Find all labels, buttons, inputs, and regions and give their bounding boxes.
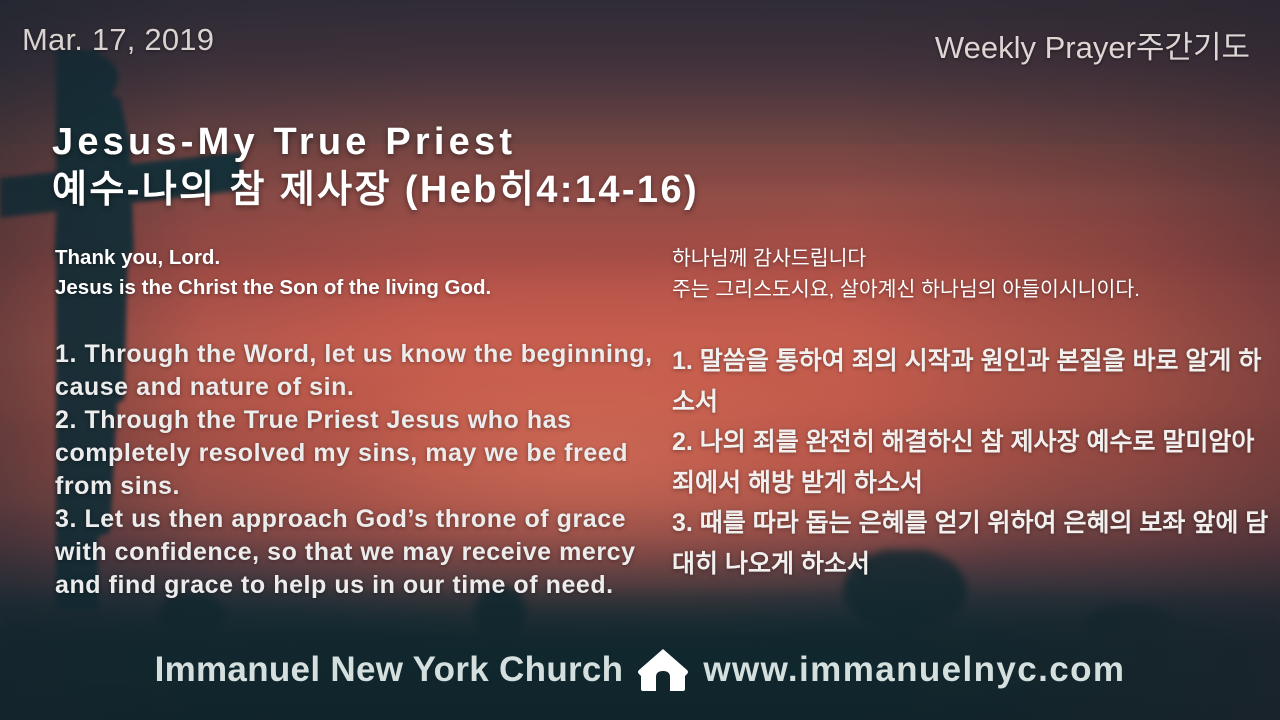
english-prayer-item: 2. Through the True Priest Jesus who has…: [55, 404, 670, 503]
church-name: Immanuel New York Church: [155, 650, 624, 690]
slide-title-block: Jesus-My True Priest 예수-나의 참 제사장 (Heb히4:…: [52, 120, 699, 214]
slide-date: Mar. 17, 2019: [22, 22, 214, 58]
korean-lead-line-1: 하나님께 감사드립니다: [672, 243, 1272, 274]
website-url: www.immanuelnyc.com: [703, 650, 1125, 690]
korean-lead: 하나님께 감사드립니다 주는 그리스도시요, 살아계신 하나님의 아들이시니이다…: [672, 243, 1272, 305]
english-lead: Thank you, Lord. Jesus is the Christ the…: [55, 243, 670, 302]
slide-section-title: Weekly Prayer주간기도: [935, 22, 1250, 67]
english-prayer-item: 1. Through the Word, let us know the beg…: [55, 338, 670, 404]
korean-prayer-item: 1. 말씀을 통하여 죄의 시작과 원인과 본질을 바로 알게 하소서: [672, 341, 1272, 422]
house-icon: [637, 648, 689, 692]
title-english: Jesus-My True Priest: [52, 120, 699, 164]
korean-lead-line-2: 주는 그리스도시요, 살아계신 하나님의 아들이시니이다.: [672, 274, 1272, 305]
korean-prayer-list: 1. 말씀을 통하여 죄의 시작과 원인과 본질을 바로 알게 하소서 2. 나…: [672, 341, 1272, 584]
korean-column: 하나님께 감사드립니다 주는 그리스도시요, 살아계신 하나님의 아들이시니이다…: [672, 243, 1272, 584]
korean-prayer-item: 3. 때를 따라 돕는 은혜를 얻기 위하여 은혜의 보좌 앞에 담대히 나오게…: [672, 503, 1272, 584]
english-prayer-list: 1. Through the Word, let us know the beg…: [55, 338, 670, 602]
title-korean: 예수-나의 참 제사장 (Heb히4:14-16): [52, 167, 699, 214]
english-prayer-item: 3. Let us then approach God’s throne of …: [55, 503, 670, 602]
prayer-slide: Mar. 17, 2019 Weekly Prayer주간기도 Jesus-My…: [0, 0, 1280, 720]
english-lead-line-2: Jesus is the Christ the Son of the livin…: [55, 273, 670, 303]
korean-prayer-item: 2. 나의 죄를 완전히 해결하신 참 제사장 예수로 말미암아 죄에서 해방 …: [672, 422, 1272, 503]
slide-footer: Immanuel New York Church www.immanuelnyc…: [0, 648, 1280, 692]
english-lead-line-1: Thank you, Lord.: [55, 243, 670, 273]
english-column: Thank you, Lord. Jesus is the Christ the…: [55, 243, 670, 602]
